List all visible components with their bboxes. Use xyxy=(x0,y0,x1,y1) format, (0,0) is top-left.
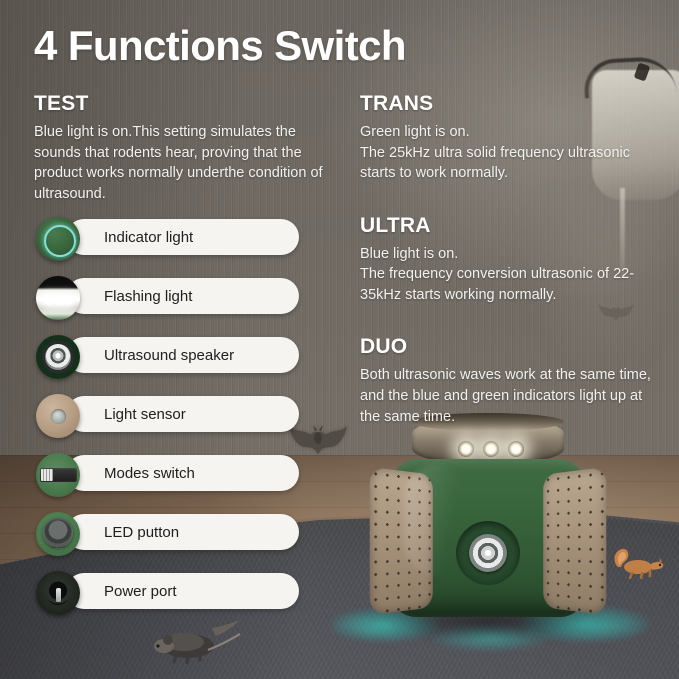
feature-item-led-button[interactable]: LED putton LED xyxy=(36,512,336,552)
feature-label: Power port xyxy=(104,583,177,600)
section-test-heading: TEST xyxy=(34,92,342,116)
section-ultra: ULTRA Blue light is on.The frequency con… xyxy=(360,214,660,306)
feature-pill[interactable]: Flashing light xyxy=(66,278,299,314)
modes-switch-icon xyxy=(36,453,80,497)
power-port-pin xyxy=(56,588,61,602)
feature-item-modes-switch[interactable]: Modes switch xyxy=(36,453,336,493)
pest-repeller-device xyxy=(352,415,624,637)
led-button-icon: LED xyxy=(36,512,80,556)
feature-pill[interactable]: Power port xyxy=(66,573,299,609)
flash-dot xyxy=(44,296,53,305)
flash-dot xyxy=(64,296,73,305)
feature-label: Light sensor xyxy=(104,406,186,423)
flash-dot xyxy=(54,296,63,305)
section-test: TEST Blue light is on.This setting simul… xyxy=(34,92,342,204)
feature-label: Flashing light xyxy=(104,288,192,305)
section-duo-body: Both ultrasonic waves work at the same t… xyxy=(360,365,660,427)
feature-item-power-port[interactable]: Power port xyxy=(36,571,336,611)
feature-item-flashing-light[interactable]: Flashing light xyxy=(36,276,336,316)
feature-label: Ultrasound speaker xyxy=(104,347,234,364)
power-port-icon xyxy=(36,571,80,615)
left-text-column: TEST Blue light is on.This setting simul… xyxy=(34,92,342,222)
section-test-body: Blue light is on.This setting simulates … xyxy=(34,122,342,204)
feature-pill[interactable]: Indicator light xyxy=(66,219,299,255)
section-duo-heading: DUO xyxy=(360,335,660,359)
led-button-caption: LED xyxy=(49,548,65,555)
light-sensor-icon xyxy=(36,394,80,438)
feature-pill[interactable]: LED putton xyxy=(66,514,299,550)
right-text-column: TRANS Green light is on.The 25kHz ultra … xyxy=(360,92,660,445)
feature-callout-list: Indicator light Flashing light Ultrasoun… xyxy=(36,217,336,630)
section-ultra-heading: ULTRA xyxy=(360,214,660,238)
device-grille-right xyxy=(543,467,606,615)
feature-label: Indicator light xyxy=(104,229,193,246)
feature-pill[interactable]: Light sensor xyxy=(66,396,299,432)
section-trans: TRANS Green light is on.The 25kHz ultra … xyxy=(360,92,660,184)
page-title: 4 Functions Switch xyxy=(34,22,406,70)
section-trans-body: Green light is on.The 25kHz ultra solid … xyxy=(360,122,660,184)
feature-pill[interactable]: Modes switch xyxy=(66,455,299,491)
flashing-light-icon xyxy=(36,276,80,320)
feature-pill[interactable]: Ultrasound speaker xyxy=(66,337,299,373)
feature-label: LED putton xyxy=(104,524,179,541)
ultrasound-speaker-icon xyxy=(36,335,80,379)
section-duo: DUO Both ultrasonic waves work at the sa… xyxy=(360,335,660,427)
indicator-light-icon xyxy=(36,217,80,261)
feature-item-light-sensor[interactable]: Light sensor xyxy=(36,394,336,434)
infographic-canvas: 4 Functions Switch TEST Blue light is on… xyxy=(0,0,679,679)
feature-item-indicator-light[interactable]: Indicator light xyxy=(36,217,336,257)
feature-label: Modes switch xyxy=(104,465,195,482)
section-ultra-body: Blue light is on.The frequency conversio… xyxy=(360,244,660,306)
feature-item-ultrasound-speaker[interactable]: Ultrasound speaker xyxy=(36,335,336,375)
switch-knob xyxy=(41,469,53,481)
device-speaker-cone xyxy=(469,534,507,572)
section-trans-heading: TRANS xyxy=(360,92,660,116)
